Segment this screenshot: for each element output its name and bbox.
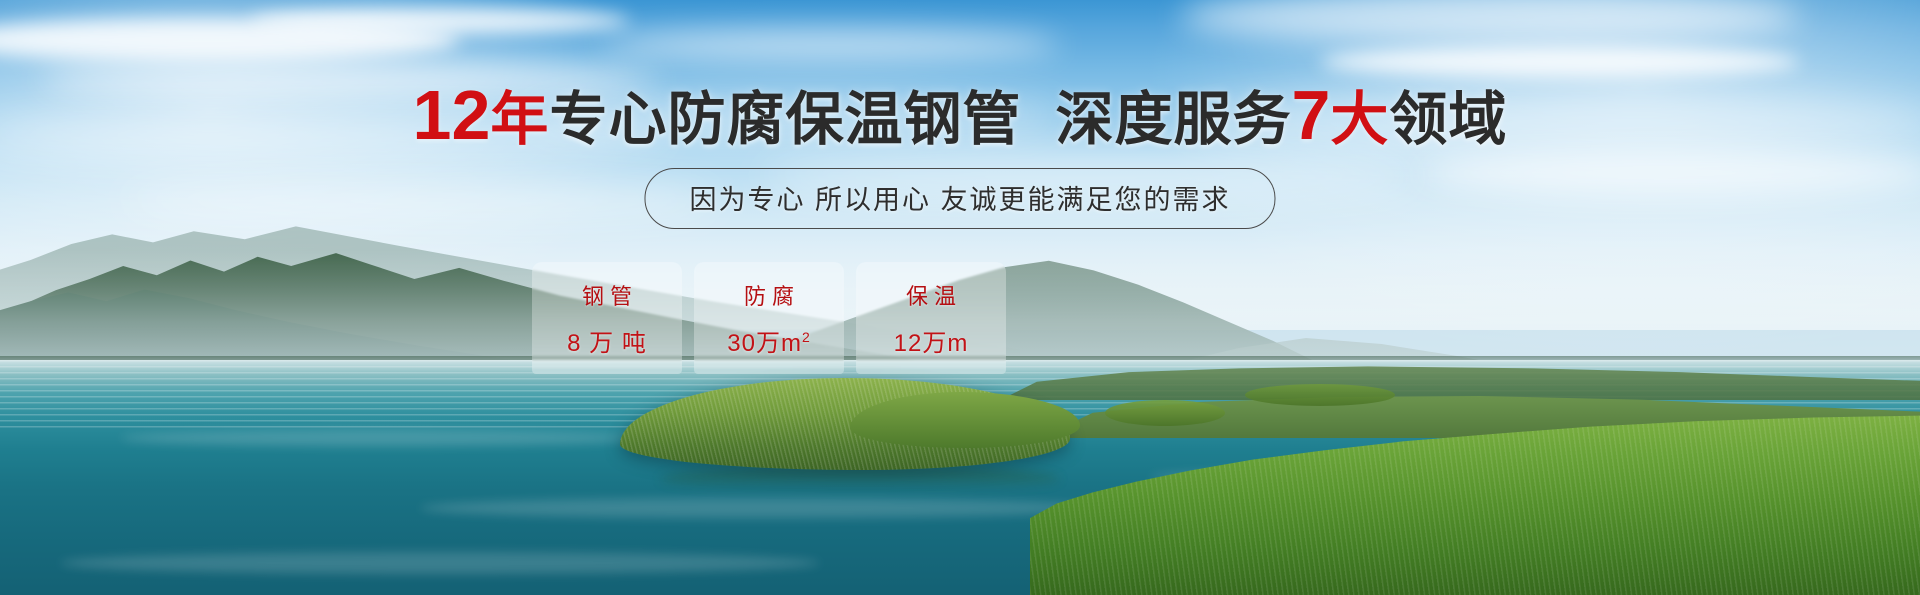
cloud — [1320, 46, 1800, 78]
banner-subtitle-pill: 因为专心 所以用心 友诚更能满足您的需求 — [644, 168, 1275, 229]
stat-card-value-superscript: 2 — [802, 329, 811, 345]
stat-card[interactable]: 钢管 8 万 吨 — [532, 262, 682, 374]
water-streak — [420, 498, 1100, 518]
cloud — [120, 178, 720, 224]
grass-islet-2 — [1245, 384, 1395, 406]
headline-years-unit: 年 — [490, 87, 549, 152]
stat-card-value: 30万m2 — [727, 323, 810, 358]
stat-card[interactable]: 保温 12万m — [856, 262, 1006, 374]
water-streak — [60, 552, 820, 574]
cloud — [1420, 150, 1920, 196]
stat-card[interactable]: 防腐 30万m2 — [694, 262, 844, 374]
stat-card-label: 防腐 — [738, 279, 800, 311]
stat-card-value-text: 12万m — [894, 330, 969, 357]
cloud — [250, 8, 630, 34]
headline-main-text: 专心防腐保温钢管 — [549, 87, 1021, 152]
hero-banner: 12年专心防腐保温钢管深度服务7大领域 因为专心 所以用心 友诚更能满足您的需求… — [0, 0, 1920, 595]
headline-years-number: 12 — [413, 76, 491, 154]
cloud — [600, 30, 1060, 60]
stat-card-label: 保温 — [900, 279, 962, 311]
headline-fields-text: 领域 — [1389, 87, 1507, 152]
stat-card-value: 12万m — [894, 323, 969, 358]
stat-card-group: 钢管 8 万 吨 防腐 30万m2 保温 12万m — [532, 262, 1006, 374]
stat-card-label: 钢管 — [576, 279, 638, 311]
stat-card-value-text: 30万m — [727, 330, 802, 357]
headline-seven-number: 7 — [1291, 76, 1330, 154]
water-streak — [120, 430, 640, 446]
stat-card-value-text: 8 万 吨 — [567, 330, 647, 357]
headline-big-char: 大 — [1330, 87, 1389, 152]
headline-service-text: 深度服务 — [1055, 87, 1291, 152]
stat-card-value: 8 万 吨 — [567, 323, 647, 358]
grass-islet-1 — [1105, 400, 1225, 426]
banner-headline: 12年专心防腐保温钢管深度服务7大领域 — [0, 84, 1920, 151]
